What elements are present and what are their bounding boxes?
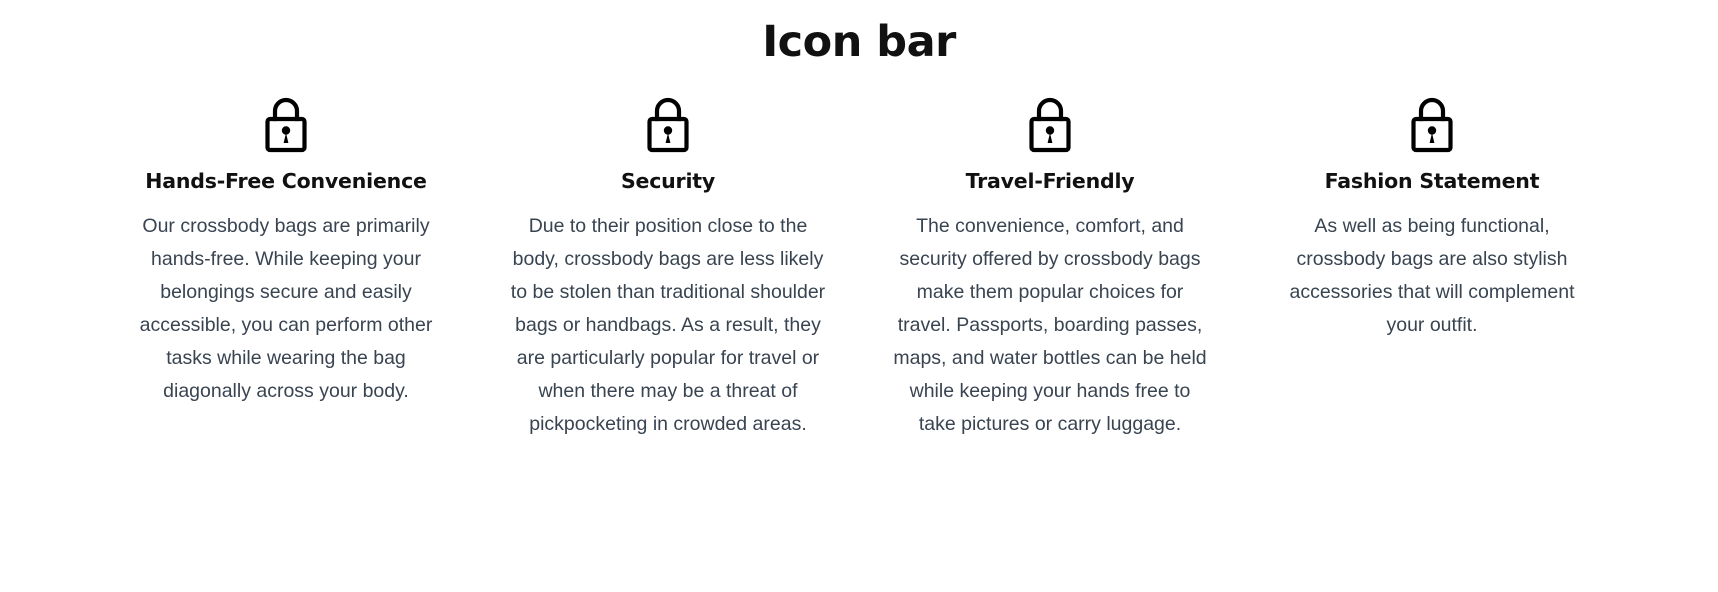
icon-bar-column-body: Our crossbody bags are primarily hands-f… xyxy=(126,210,446,408)
lock-icon xyxy=(254,94,318,158)
icon-bar-column-title: Hands-Free Convenience xyxy=(145,168,426,195)
icon-bar-column-body: Due to their position close to the body,… xyxy=(508,210,828,441)
icon-bar-column: Fashion Statement As well as being funct… xyxy=(1241,94,1623,343)
icon-bar-page: Icon bar Hands-Free Convenience Our cros… xyxy=(0,0,1718,592)
icon-bar-column-title: Travel-Friendly xyxy=(966,168,1135,195)
lock-icon xyxy=(1018,94,1082,158)
icon-bar-column: Security Due to their position close to … xyxy=(477,94,859,442)
icon-bar-column-body: The convenience, comfort, and security o… xyxy=(890,210,1210,441)
icon-bar-column: Hands-Free Convenience Our crossbody bag… xyxy=(95,94,477,409)
icon-bar-column: Travel-Friendly The convenience, comfort… xyxy=(859,94,1241,442)
icon-bar-section: Hands-Free Convenience Our crossbody bag… xyxy=(0,94,1718,442)
lock-icon xyxy=(636,94,700,158)
icon-bar-column-title: Security xyxy=(621,168,715,195)
page-title: Icon bar xyxy=(0,0,1718,70)
lock-icon xyxy=(1400,94,1464,158)
icon-bar-column-body: As well as being functional, crossbody b… xyxy=(1272,210,1592,342)
icon-bar-column-title: Fashion Statement xyxy=(1325,168,1540,195)
